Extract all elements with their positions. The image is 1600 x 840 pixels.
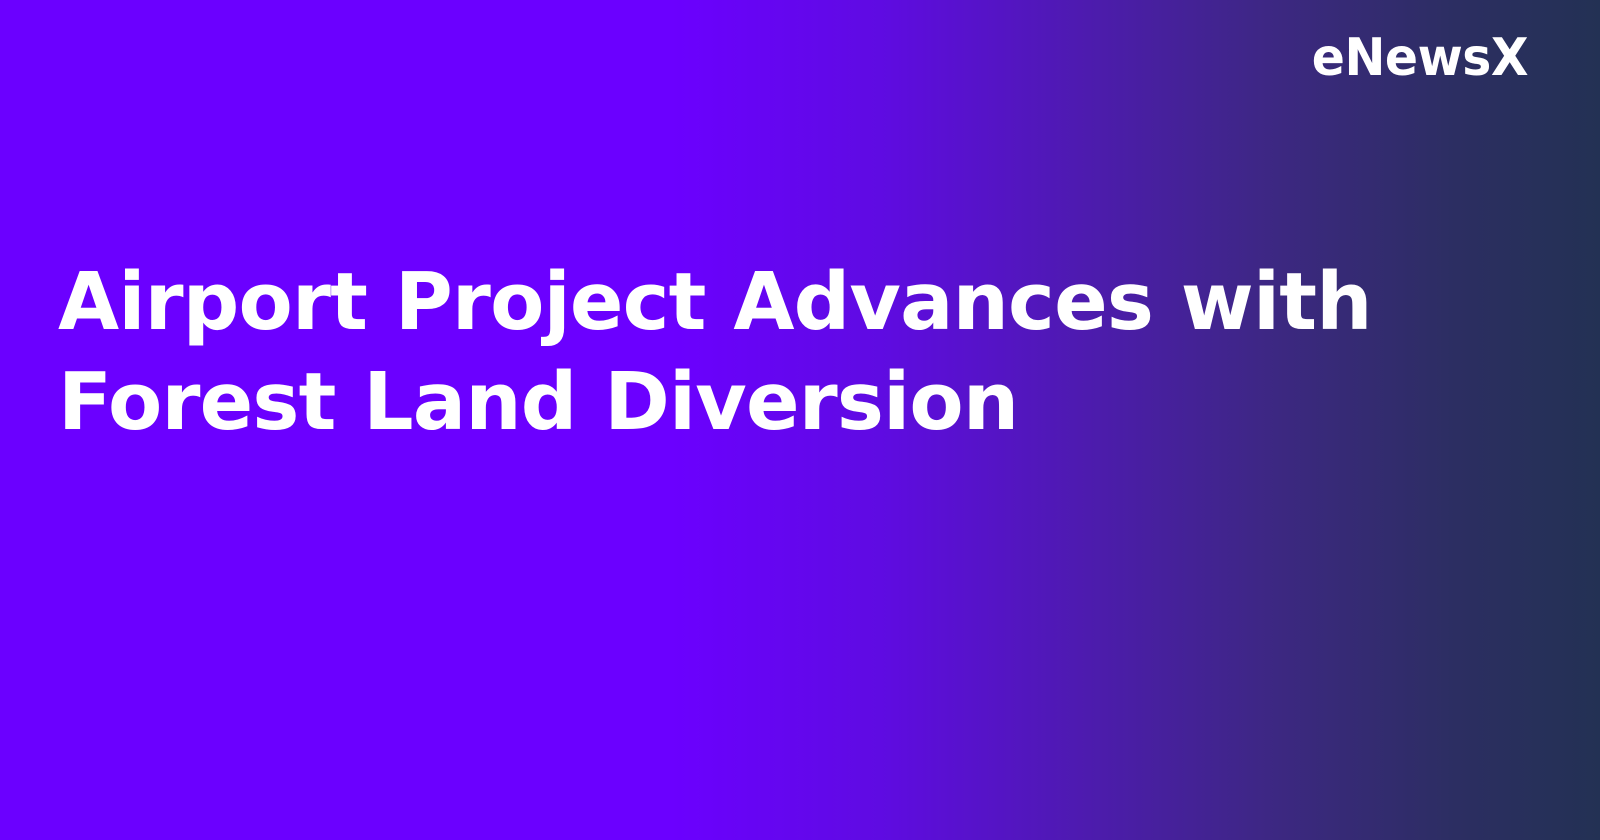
news-article-card: eNewsX Airport Project Advances with For…: [0, 0, 1600, 840]
brand-logo[interactable]: eNewsX: [1312, 32, 1528, 84]
article-headline: Airport Project Advances with Forest Lan…: [58, 252, 1518, 452]
headline-container: Airport Project Advances with Forest Lan…: [58, 252, 1518, 452]
